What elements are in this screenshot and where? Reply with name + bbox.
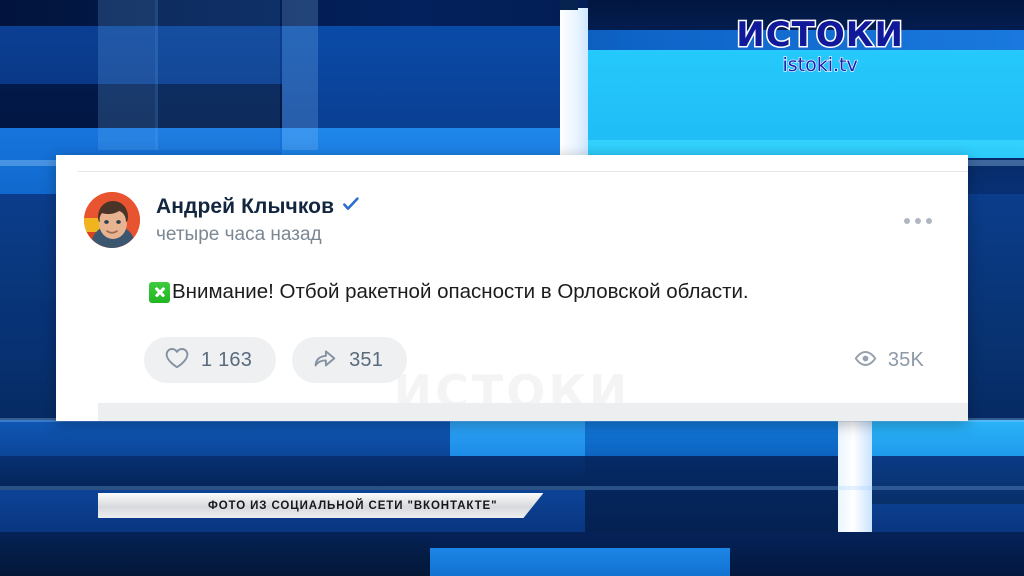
lower-third-caption-bar: ФОТО ИЗ СОЦИАЛЬНОЙ СЕТИ "ВКОНТАКТЕ" [98,493,543,518]
view-count: 35K [888,349,924,372]
card-footer-strip [98,403,968,421]
post-timestamp: четыре часа назад [156,224,361,246]
share-count: 351 [349,349,383,372]
like-button[interactable]: 1 163 [144,337,276,383]
channel-logo: ИСТОКИ istoki.tv [736,18,904,75]
channel-logo-mark: ИСТОКИ [736,18,904,52]
vk-post-card: ИСТОКИ [56,155,968,421]
post-text: Внимание! Отбой ракетной опасности в Орл… [172,279,749,306]
broadcast-frame: ИСТОКИ istoki.tv ИСТОКИ [0,0,1024,576]
share-arrow-icon [312,346,338,375]
post-author-block: Андрей Клычков четыре часа назад [156,192,361,246]
eye-icon [854,350,877,372]
heart-icon [164,346,190,375]
post-header: Андрей Клычков четыре часа назад [84,192,361,248]
green-cross-emoji-icon [149,282,170,303]
view-counter: 35K [854,349,924,372]
channel-logo-domain: istoki.tv [736,56,904,75]
share-button[interactable]: 351 [292,337,407,383]
lower-third-caption-text: ФОТО ИЗ СОЦИАЛЬНОЙ СЕТИ "ВКОНТАКТЕ" [208,500,497,512]
post-actions: 1 163 351 [144,337,407,383]
card-divider [78,171,968,172]
blue-check-icon [341,194,361,219]
post-author-name[interactable]: Андрей Клычков [156,195,334,218]
three-dots-icon[interactable] [904,218,932,224]
like-count: 1 163 [201,349,252,372]
avatar[interactable] [84,192,140,248]
post-body: Внимание! Отбой ракетной опасности в Орл… [149,279,928,306]
